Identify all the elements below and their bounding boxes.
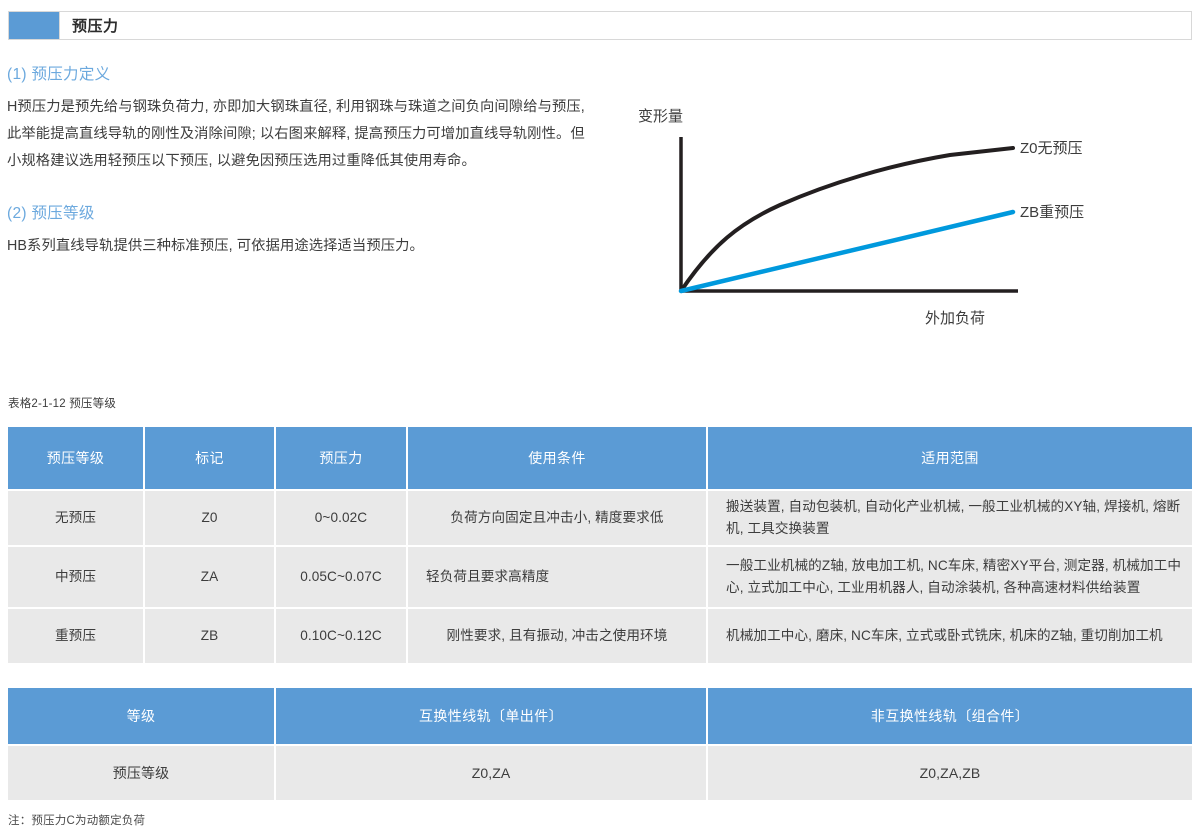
column-header-non-interchangeable: 非互换性线轨〔组合件〕: [708, 688, 1192, 744]
cell-scope: 机械加工中心, 磨床, NC车床, 立式或卧式铣床, 机床的Z轴, 重切削加工机: [708, 607, 1192, 663]
column-header-mark: 标记: [145, 427, 276, 489]
table-caption: 表格2-1-12 预压等级: [8, 395, 116, 411]
cell-grade-label: 预压等级: [8, 744, 276, 800]
chart-series-zb-line: [681, 212, 1013, 291]
column-header-scope: 适用范围: [708, 427, 1192, 489]
cell-interchangeable-values: Z0,ZA: [276, 744, 708, 800]
cell-non-interchangeable-values: Z0,ZA,ZB: [708, 744, 1192, 800]
page-title-bar: 预压力: [8, 11, 1192, 40]
title-text-container: 预压力: [59, 12, 1191, 39]
section-heading-definition: (1) 预压力定义: [7, 62, 587, 84]
document-page: 预压力 (1) 预压力定义 H预压力是预先给与钢珠负荷力, 亦即加大钢珠直径, …: [0, 0, 1200, 837]
chart-x-axis-label: 外加负荷: [925, 310, 985, 327]
column-header-force: 预压力: [276, 427, 408, 489]
cell-mark: ZB: [145, 607, 276, 663]
chart-legend-zb: ZB重预压: [1020, 204, 1084, 221]
cell-force: 0.10C~0.12C: [276, 607, 408, 663]
cell-condition: 轻负荷且要求高精度: [408, 545, 708, 607]
table-row: 中预压 ZA 0.05C~0.07C 轻负荷且要求高精度 一般工业机械的Z轴, …: [8, 545, 1192, 607]
chart-y-axis-label: 变形量: [638, 108, 683, 125]
interchangeability-table: 等级 互换性线轨〔单出件〕 非互换性线轨〔组合件〕 预压等级 Z0,ZA Z0,…: [8, 688, 1192, 800]
cell-scope: 一般工业机械的Z轴, 放电加工机, NC车床, 精密XY平台, 测定器, 机械加…: [708, 545, 1192, 607]
cell-force: 0.05C~0.07C: [276, 545, 408, 607]
column-header-condition: 使用条件: [408, 427, 708, 489]
section-spacer: [7, 175, 587, 201]
cell-force: 0~0.02C: [276, 489, 408, 545]
cell-condition: 负荷方向固定且冲击小, 精度要求低: [408, 489, 708, 545]
column-header-grade: 等级: [8, 688, 276, 744]
cell-mark: ZA: [145, 545, 276, 607]
table-row: 无预压 Z0 0~0.02C 负荷方向固定且冲击小, 精度要求低 搬送装置, 自…: [8, 489, 1192, 545]
title-accent-block: [9, 12, 59, 39]
preload-grade-table: 预压等级 标记 预压力 使用条件 适用范围 无预压 Z0 0~0.02C 负荷方…: [8, 427, 1192, 663]
preload-deformation-chart: 变形量 Z0无预压 ZB重预压 外加负荷: [620, 95, 1195, 335]
page-title: 预压力: [72, 15, 119, 36]
cell-grade: 无预压: [8, 489, 145, 545]
cell-grade: 重预压: [8, 607, 145, 663]
table-row: 预压等级 Z0,ZA Z0,ZA,ZB: [8, 744, 1192, 800]
cell-scope: 搬送装置, 自动包装机, 自动化产业机械, 一般工业机械的XY轴, 焊接机, 熔…: [708, 489, 1192, 545]
table-header-row: 预压等级 标记 预压力 使用条件 适用范围: [8, 427, 1192, 489]
section-paragraph-definition: H预压力是预先给与钢珠负荷力, 亦即加大钢珠直径, 利用钢珠与珠道之间负向间隙给…: [7, 94, 587, 175]
cell-condition: 刚性要求, 且有振动, 冲击之使用环境: [408, 607, 708, 663]
section-paragraph-grades: HB系列直线导轨提供三种标准预压, 可依据用途选择适当预压力。: [7, 233, 587, 260]
column-header-grade: 预压等级: [8, 427, 145, 489]
cell-grade: 中预压: [8, 545, 145, 607]
section-heading-grades: (2) 预压等级: [7, 201, 587, 223]
table-header-row: 等级 互换性线轨〔单出件〕 非互换性线轨〔组合件〕: [8, 688, 1192, 744]
footnote: 注：预压力C为动额定负荷: [8, 812, 145, 828]
cell-mark: Z0: [145, 489, 276, 545]
chart-legend-z0: Z0无预压: [1020, 140, 1083, 157]
left-text-column: (1) 预压力定义 H预压力是预先给与钢珠负荷力, 亦即加大钢珠直径, 利用钢珠…: [7, 62, 587, 260]
column-header-interchangeable: 互换性线轨〔单出件〕: [276, 688, 708, 744]
table-row: 重预压 ZB 0.10C~0.12C 刚性要求, 且有振动, 冲击之使用环境 机…: [8, 607, 1192, 663]
chart-series-z0-curve: [681, 148, 1013, 291]
